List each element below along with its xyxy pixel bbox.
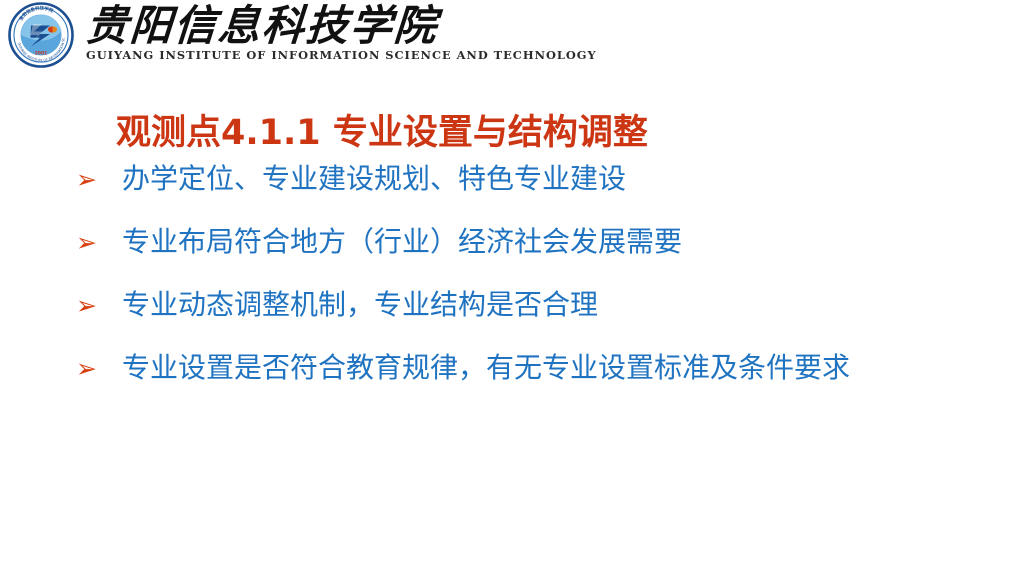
university-emblem-icon: 2001 贵阳信息科技学院 GUIYANG INSTITUTE OF INFOR… <box>8 2 74 68</box>
bullet-text: 专业设置是否符合教育规律，有无专业设置标准及条件要求 <box>122 351 1004 385</box>
slide-title: 观测点4.1.1 专业设置与结构调整 <box>116 111 648 155</box>
university-name-en: GUIYANG INSTITUTE OF INFORMATION SCIENCE… <box>86 49 597 62</box>
bullet-item: ➢ 办学定位、专业建设规划、特色专业建设 <box>74 162 1004 225</box>
university-name-cn: 贵阳信息科技学院 <box>84 4 603 48</box>
arrow-bullet-icon: ➢ <box>74 226 122 260</box>
bullet-item: ➢ 专业布局符合地方（行业）经济社会发展需要 <box>74 225 1004 288</box>
arrow-bullet-icon: ➢ <box>74 163 122 197</box>
bullet-item: ➢ 专业设置是否符合教育规律，有无专业设置标准及条件要求 <box>74 351 1004 414</box>
brand-header: 2001 贵阳信息科技学院 GUIYANG INSTITUTE OF INFOR… <box>8 2 602 68</box>
arrow-bullet-icon: ➢ <box>74 352 122 386</box>
slide-canvas: 2001 贵阳信息科技学院 GUIYANG INSTITUTE OF INFOR… <box>0 0 1024 576</box>
bullet-text: 专业布局符合地方（行业）经济社会发展需要 <box>122 225 1004 259</box>
bullet-list: ➢ 办学定位、专业建设规划、特色专业建设 ➢ 专业布局符合地方（行业）经济社会发… <box>74 162 1004 414</box>
brand-wordmark: 贵阳信息科技学院 GUIYANG INSTITUTE OF INFORMATIO… <box>86 4 602 62</box>
arrow-bullet-icon: ➢ <box>74 289 122 323</box>
bullet-text: 专业动态调整机制，专业结构是否合理 <box>122 288 1004 322</box>
emblem-year-text: 2001 <box>35 51 48 57</box>
bullet-item: ➢ 专业动态调整机制，专业结构是否合理 <box>74 288 1004 351</box>
bullet-text: 办学定位、专业建设规划、特色专业建设 <box>122 162 1004 196</box>
